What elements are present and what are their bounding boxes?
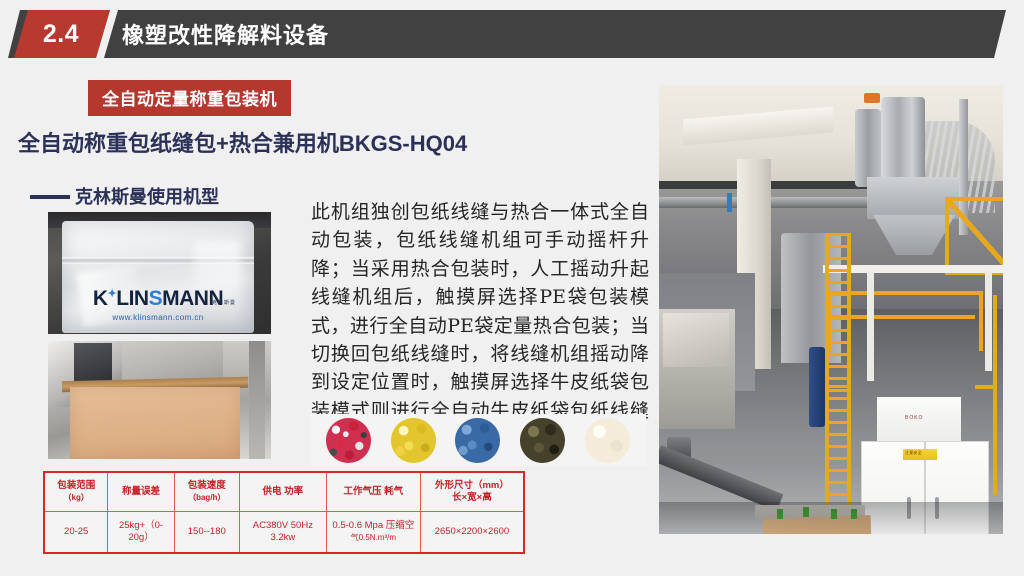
sub-heading-label: 克林斯曼使用机型: [75, 183, 219, 209]
table-header-row: 包装范围 （kg） 称量误差 包装速度 （bag/h） 供电 功率 工作气压 耗…: [44, 472, 524, 512]
cell-l1-1: 25kg+（0-: [111, 520, 170, 532]
machine-frame-right: [985, 271, 992, 371]
section-number-badge: 2.4: [14, 10, 110, 58]
machine-ladder-lower: [825, 385, 851, 505]
machine-platform-railing-mid: [827, 315, 975, 319]
slide-header: 2.4 橡塑改性降解料设备: [0, 10, 1024, 58]
table-header-cell-3: 供电 功率: [239, 472, 326, 512]
status-badge: 全自动定量称重包装机: [88, 80, 291, 116]
table-header-cell-4: 工作气压 耗气: [326, 472, 420, 512]
kraft-photo-post: [249, 341, 265, 459]
header-l2-2: （bag/h）: [178, 492, 236, 504]
kraft-bag-brand-logo: K✦LINSMANN: [106, 457, 212, 459]
granule-sample-olive: [520, 418, 565, 463]
table-cell-dimensions: 2650×2200×2600: [420, 512, 524, 554]
header-l1-1: 称量误差: [111, 486, 170, 498]
granule-sample-red: [326, 418, 371, 463]
sub-heading: 克林斯曼使用机型: [30, 183, 219, 209]
table-header-cell-2: 包装速度 （bag/h）: [174, 472, 239, 512]
granule-sample-cream: [585, 418, 630, 463]
machine-brand-label: BOKO: [905, 415, 923, 421]
header-l1-3: 供电 功率: [243, 486, 323, 498]
pe-bag-url: www.klinsmann.com.cn: [112, 313, 203, 322]
pe-bag-brand-logo: K✦LINSMANN: [93, 287, 223, 311]
table-row: 20-25 25kg+（0- 20g） 150--180 AC380V 50Hz…: [44, 512, 524, 554]
granule-sample-yellow: [391, 418, 436, 463]
table-header-cell-0: 包装范围 （kg）: [44, 472, 108, 512]
granule-sample-blue: [455, 418, 500, 463]
cell-l1-2: 150--180: [178, 526, 236, 538]
pe-bag-photo: K✦LINSMANN 克林斯曼 www.klinsmann.com.cn: [48, 212, 271, 334]
pe-bag-object: K✦LINSMANN 克林斯曼 www.klinsmann.com.cn: [62, 221, 254, 333]
table-header-cell-5: 外形尺寸（mm） 长×宽×高: [420, 472, 524, 512]
header-l1-5: 外形尺寸（mm）: [424, 480, 520, 492]
machine-blue-cylinder: [809, 347, 825, 427]
cell-l1-5: 2650×2200×2600: [424, 526, 520, 538]
cell-l1-4: 0.5-0.6 Mpa 压缩空: [330, 520, 417, 532]
machine-frame-left: [867, 271, 874, 381]
section-number-text: 2.4: [43, 20, 79, 49]
dash-icon: [30, 195, 70, 199]
machine-right-railing: [993, 295, 997, 495]
machine-left-window: [663, 313, 729, 367]
kraft-bag-photo: K✦LINSMANN www.klinsmann.com.cn 改性材料: [48, 341, 271, 459]
page-title: 橡塑改性降解料设备: [122, 10, 329, 58]
machine-right-railing-rung: [975, 385, 997, 389]
header-l2-0: （kg）: [48, 492, 104, 504]
kraft-bag-object: K✦LINSMANN www.klinsmann.com.cn 改性材料: [70, 387, 240, 459]
header-l1-4: 工作气压 耗气: [330, 486, 417, 498]
machine-small-vessel: [855, 109, 881, 187]
machine-platform-railing: [827, 291, 983, 351]
header-l2-5: 长×宽×高: [424, 492, 520, 504]
cell-l1-3: AC380V 50Hz: [243, 520, 323, 532]
kraft-photo-machine-dark: [74, 343, 112, 383]
machine-railing-brace: [947, 199, 1003, 265]
spec-table: 包装范围 （kg） 称量误差 包装速度 （bag/h） 供电 功率 工作气压 耗…: [43, 471, 525, 554]
cell-l2-3: 3.2kw: [243, 532, 323, 544]
slide-root: 2.4 橡塑改性降解料设备 全自动定量称重包装机 全自动称重包纸缝包+热合兼用机…: [0, 0, 1024, 576]
header-l1-0: 包装范围: [48, 480, 104, 492]
pipe-tag-blue-1: [727, 193, 732, 212]
table-cell-weighing-error: 25kg+（0- 20g）: [108, 512, 174, 554]
machine-photo: BOKO 注意安全: [659, 85, 1003, 534]
granule-samples-strip: [310, 414, 646, 466]
machine-floor-shadow: [659, 502, 1003, 534]
table-cell-packing-range: 20-25: [44, 512, 108, 554]
table-cell-air-pressure: 0.5-0.6 Mpa 压缩空 气0.5N.m³/m: [326, 512, 420, 554]
table-cell-power-supply: AC380V 50Hz 3.2kw: [239, 512, 326, 554]
table-cell-packing-speed: 150--180: [174, 512, 239, 554]
machine-orange-cap: [864, 93, 880, 103]
cell-l2-1: 20g）: [111, 532, 170, 544]
machine-warning-text: 注意安全: [905, 450, 922, 456]
cell-l1-0: 20-25: [48, 526, 104, 538]
pe-bag-brand-cn: 克林斯曼: [212, 299, 236, 306]
product-model-heading: 全自动称重包纸缝包+热合兼用机BKGS-HQ04: [18, 126, 467, 158]
table-header-cell-1: 称量误差: [108, 472, 174, 512]
cell-l2-4: 气0.5N.m³/m: [330, 532, 417, 544]
header-l1-2: 包装速度: [178, 480, 236, 492]
